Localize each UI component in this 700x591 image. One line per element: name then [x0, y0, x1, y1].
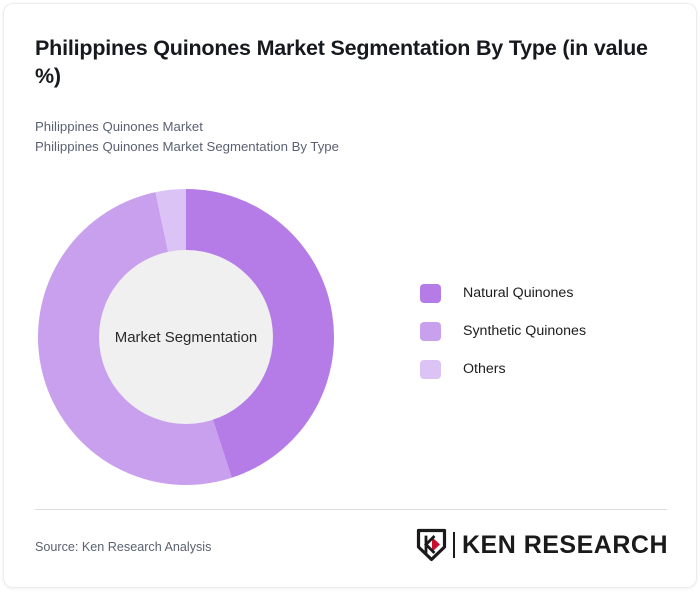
donut-svg [38, 189, 334, 485]
source-note: Source: Ken Research Analysis [35, 540, 211, 554]
legend-item-label: Others [463, 361, 506, 377]
legend-item-label: Synthetic Quinones [463, 323, 586, 339]
donut-chart: Market Segmentation [38, 189, 334, 485]
legend-swatch-icon [420, 284, 441, 303]
legend-item[interactable]: Others [420, 358, 586, 380]
chart-area: Market Segmentation Natural QuinonesSynt… [4, 164, 697, 504]
legend-item-label: Natural Quinones [463, 285, 573, 301]
chart-legend: Natural QuinonesSynthetic QuinonesOthers [420, 282, 586, 396]
legend-item[interactable]: Natural Quinones [420, 282, 586, 304]
legend-swatch-icon [420, 322, 441, 341]
ken-research-logo: KEN RESEARCH [416, 525, 668, 565]
shield-icon [416, 528, 447, 562]
chart-card: Philippines Quinones Market Segmentation… [3, 3, 697, 588]
subtitle-block: Philippines Quinones Market Philippines … [35, 117, 339, 158]
page-title: Philippines Quinones Market Segmentation… [35, 34, 655, 91]
legend-item[interactable]: Synthetic Quinones [420, 320, 586, 342]
footer-divider [35, 509, 667, 510]
legend-swatch-icon [420, 360, 441, 379]
donut-hole [99, 250, 273, 424]
subtitle-line-1: Philippines Quinones Market [35, 117, 339, 137]
logo-separator [453, 532, 455, 558]
subtitle-line-2: Philippines Quinones Market Segmentation… [35, 137, 339, 157]
logo-wordmark: KEN RESEARCH [462, 533, 668, 558]
